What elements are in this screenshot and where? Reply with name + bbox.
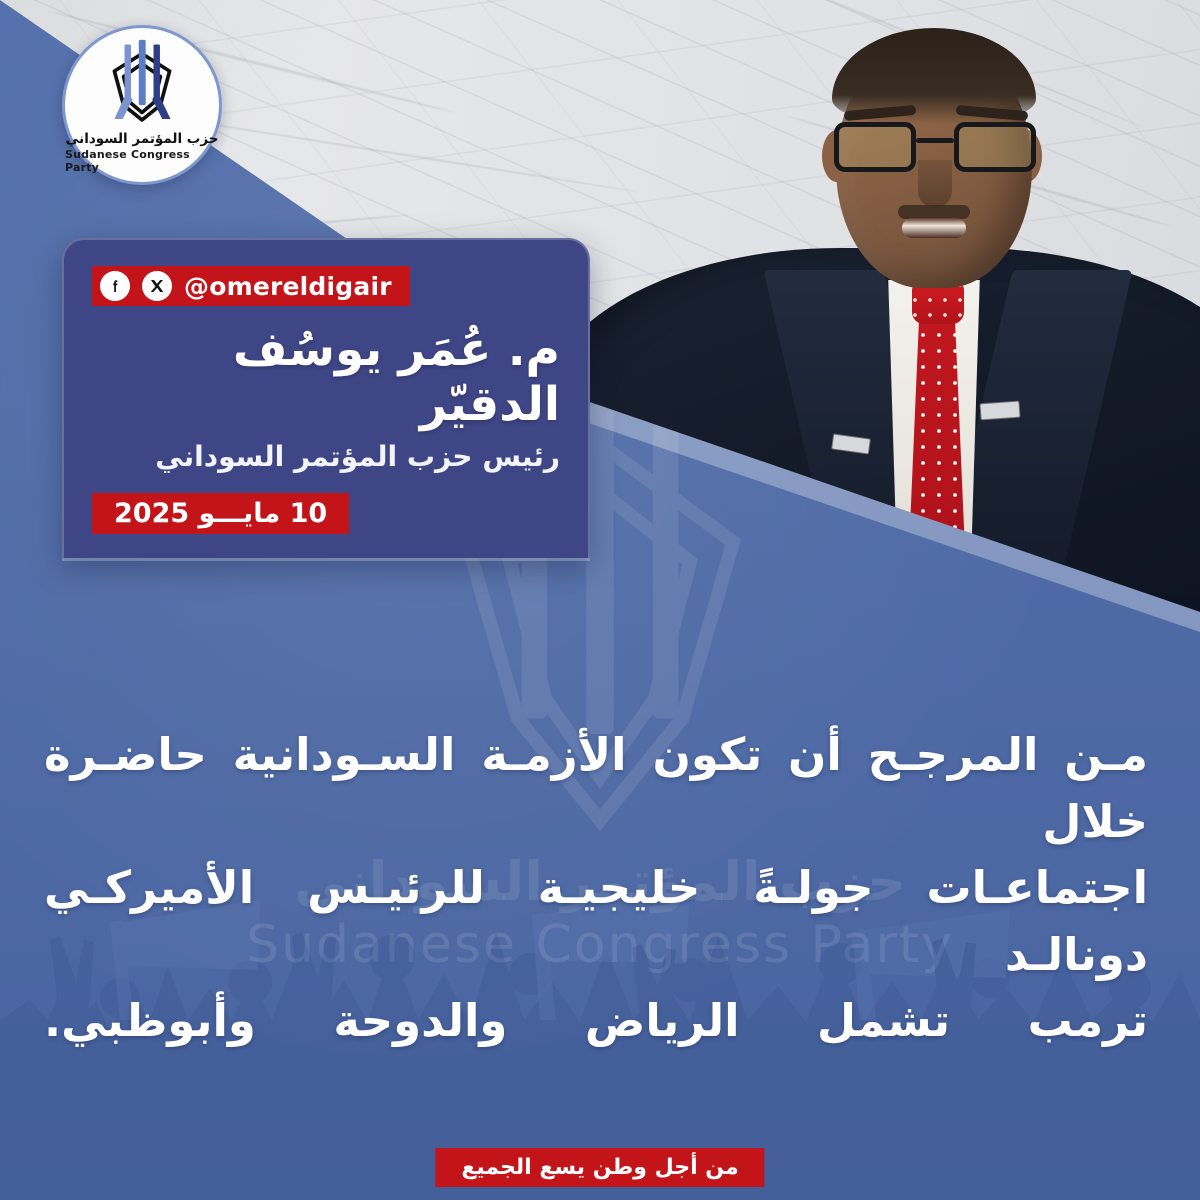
lapel-pin-right xyxy=(979,401,1020,421)
quote-line-2: اجتماعـات جولـةً خليجيـة للرئيـس الأميرك… xyxy=(44,855,1148,988)
party-logo[interactable]: حزب المؤتمر السوداني Sudanese Congress P… xyxy=(62,25,222,185)
social-handle-text[interactable]: @omereldigair xyxy=(184,272,392,301)
speaker-title: رئيس حزب المؤتمر السوداني xyxy=(92,439,560,475)
speaker-name: م. عُمَر يوسُف الدقيّر xyxy=(92,322,560,433)
party-logo-arabic: حزب المؤتمر السوداني xyxy=(65,131,218,147)
mouth xyxy=(902,218,966,238)
necktie-knot xyxy=(912,282,964,324)
party-logo-english: Sudanese Congress Party xyxy=(65,148,219,174)
facebook-icon[interactable] xyxy=(100,271,130,301)
slogan-banner: من أجل وطن يسع الجميع xyxy=(435,1148,764,1187)
x-twitter-icon[interactable] xyxy=(142,271,172,301)
quote-text: مـن المرجـح أن تكون الأزمـة السـودانية ح… xyxy=(44,722,1148,1055)
mustache xyxy=(898,205,970,219)
speaker-info-card: @omereldigair م. عُمَر يوسُف الدقيّر رئي… xyxy=(62,238,590,558)
date-badge: 10 مايـــو 2025 xyxy=(92,493,349,534)
quote-line-3: ترمب تشمل الرياض والدوحة وأبوظبي. xyxy=(44,988,1148,1055)
party-emblem-icon xyxy=(96,38,188,130)
quote-poster: حزب المؤتمر السوداني Sudanese Congress P… xyxy=(0,0,1200,1200)
quote-line-1: مـن المرجـح أن تكون الأزمـة السـودانية ح… xyxy=(44,722,1148,855)
nose xyxy=(918,160,952,208)
social-handle-bar[interactable]: @omereldigair xyxy=(92,266,410,306)
